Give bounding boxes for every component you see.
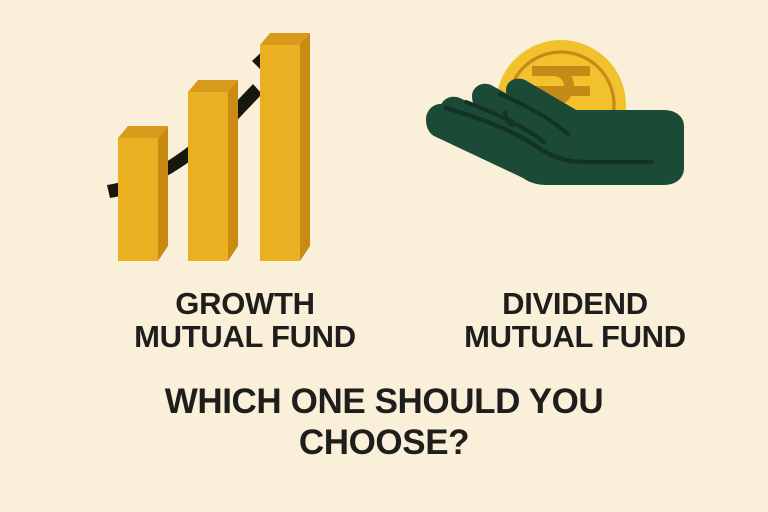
growth-column-label: GROWTH MUTUAL FUND bbox=[60, 288, 430, 354]
headline-question: WHICH ONE SHOULD YOU CHOOSE? bbox=[64, 382, 704, 463]
bar-3 bbox=[260, 33, 310, 261]
bar-2 bbox=[188, 80, 238, 261]
hand-holding-rupee-coin-icon bbox=[420, 18, 720, 283]
dividend-column-label: DIVIDEND MUTUAL FUND bbox=[390, 288, 760, 354]
growth-bar-chart-with-rising-arrow-icon bbox=[90, 18, 340, 283]
bar-1 bbox=[118, 126, 168, 261]
infographic-canvas: GROWTH MUTUAL FUND DIVIDEND MUTUAL FUND … bbox=[0, 0, 768, 512]
